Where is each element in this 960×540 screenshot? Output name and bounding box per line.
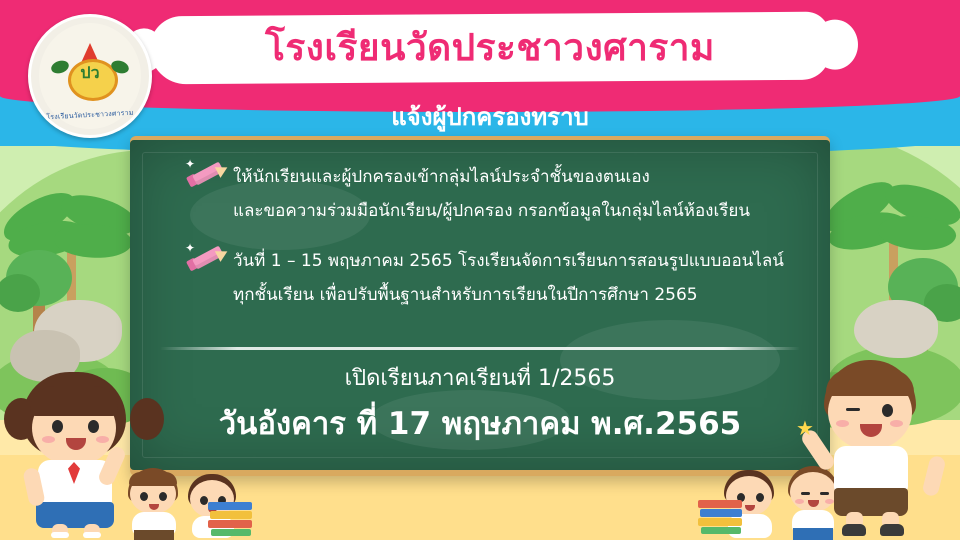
books-stack-right — [698, 500, 744, 534]
announcement-bullets: ✦ ให้นักเรียนและผู้ปกครองเข้ากลุ่มไลน์ปร… — [175, 160, 815, 328]
bullet-2-line-2: ทุกชั้นเรียน เพื่อปรับพื้นฐานสำหรับการเร… — [233, 278, 815, 312]
page-title: โรงเรียนวัดประชาวงศาราม — [150, 20, 830, 76]
list-item: ✦ ให้นักเรียนและผู้ปกครองเข้ากลุ่มไลน์ปร… — [175, 160, 815, 228]
pencil-icon: ✦ — [187, 246, 227, 276]
rock-3 — [854, 300, 938, 358]
open-term-text: เปิดเรียนภาคเรียนที่ 1/2565 — [130, 360, 830, 395]
announcement-poster: โรงเรียนวัดประชาวงศาราม แจ้งผู้ปกครองทรา… — [0, 0, 960, 540]
girl-student-left-2 — [180, 474, 250, 540]
bullet-2-line-1: วันที่ 1 – 15 พฤษภาคม 2565 โรงเรียนจัดกา… — [233, 244, 815, 278]
bullet-1-line-1: ให้นักเรียนและผู้ปกครองเข้ากลุ่มไลน์ประจ… — [233, 160, 815, 194]
pencil-icon: ✦ — [187, 162, 227, 192]
boy-student-right: ★ — [790, 360, 950, 540]
school-logo: ปว โรงเรียนวัดประชาวงศาราม — [28, 14, 152, 138]
chalk-divider — [160, 347, 800, 350]
school-emblem-icon: ปว — [59, 43, 121, 99]
logo-monogram: ปว — [59, 61, 121, 86]
notice-subtitle: แจ้งผู้ปกครองทราบ — [150, 100, 830, 134]
open-date-text: วันอังคาร ที่ 17 พฤษภาคม พ.ศ.2565 — [130, 398, 830, 448]
books-stack-left — [208, 502, 254, 536]
star-icon: ★ — [796, 416, 814, 440]
bullet-1-line-2: และขอความร่วมมือนักเรียน/ผู้ปกครอง กรอกข… — [233, 194, 815, 228]
list-item: ✦ วันที่ 1 – 15 พฤษภาคม 2565 โรงเรียนจัด… — [175, 244, 815, 312]
